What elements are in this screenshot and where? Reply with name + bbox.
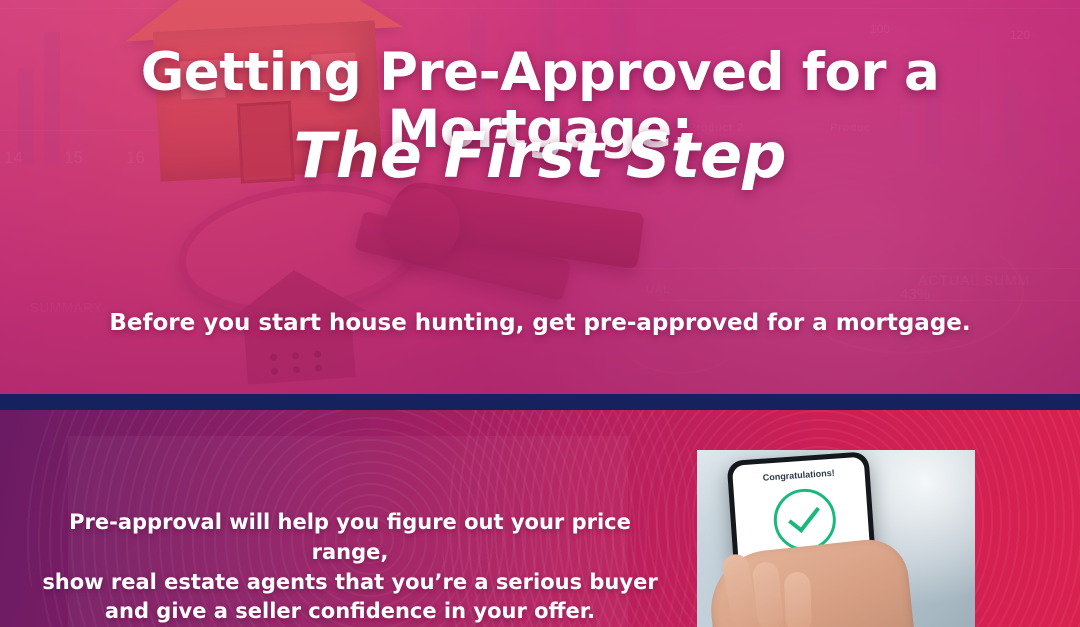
hero-section: 14 15 16 13 120 100 43% ACTUAL SUMM SUMM…	[0, 0, 1080, 394]
phone-approval-photo: Congratulations! Your finance has been a…	[697, 450, 975, 627]
page-subtitle-emphasis: The First Step	[0, 123, 1080, 188]
hero-tagline: Before you start house hunting, get pre-…	[0, 310, 1080, 336]
lower-body-line-1: Pre-approval will help you figure out yo…	[40, 508, 660, 568]
lower-body-line-2: show real estate agents that you’re a se…	[40, 568, 660, 598]
lower-body-text: Pre-approval will help you figure out yo…	[40, 508, 660, 627]
section-divider	[0, 394, 1080, 410]
infographic-page: 14 15 16 13 120 100 43% ACTUAL SUMM SUMM…	[0, 0, 1080, 627]
lower-section: Pre-approval will help you figure out yo…	[0, 410, 1080, 627]
lower-body-line-3: and give a seller confidence in your off…	[40, 597, 660, 627]
finger-graphic	[784, 572, 812, 627]
approval-heading: Congratulations!	[733, 466, 865, 485]
